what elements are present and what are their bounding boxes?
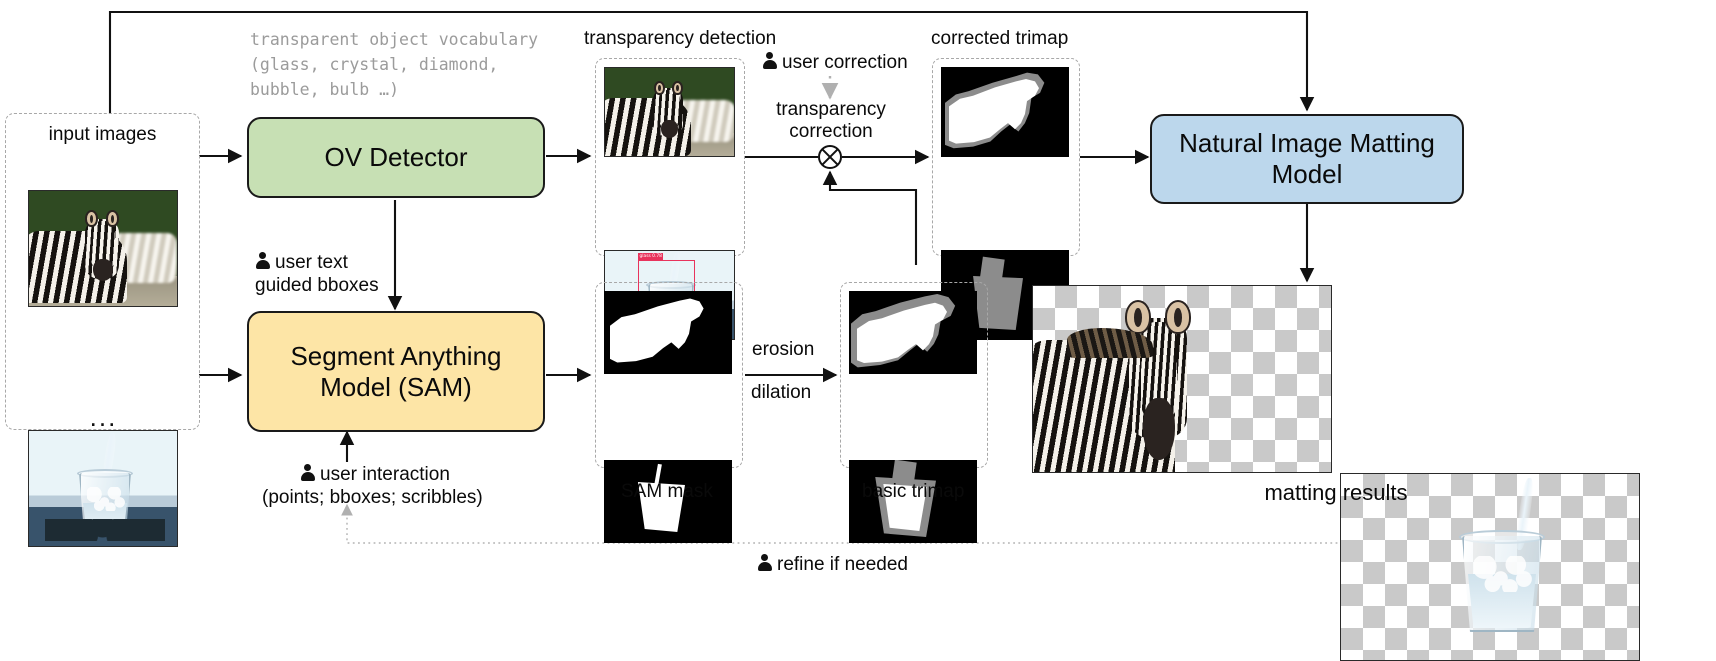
transparency-detection-group: glass 0.78 bbox=[595, 58, 745, 256]
ov-detector-box[interactable]: OV Detector bbox=[247, 117, 545, 198]
segment-anything-model-box[interactable]: Segment Anything Model (SAM) bbox=[247, 311, 545, 432]
transparent-object-vocabulary-note: transparent object vocabulary (glass, cr… bbox=[250, 27, 538, 102]
diagram-canvas: transparent object vocabulary (glass, cr… bbox=[0, 0, 1716, 645]
matting-label-line-2: Model bbox=[1272, 159, 1343, 190]
sam-mask-zebra[interactable] bbox=[604, 291, 732, 374]
label-dilation: dilation bbox=[751, 382, 811, 404]
annotation-refine-if-needed: refine if needed bbox=[757, 554, 908, 576]
basic-trimap-zebra[interactable] bbox=[849, 291, 977, 374]
annotation-user-interaction: user interaction (points; bboxes; scribb… bbox=[300, 464, 483, 509]
matting-label-line-1: Natural Image Matting bbox=[1179, 128, 1435, 159]
label-erosion: erosion bbox=[752, 339, 814, 361]
corrected-trimap-zebra[interactable] bbox=[941, 67, 1069, 157]
sam-label-line-2: Model (SAM) bbox=[320, 372, 472, 403]
zebra-cutout bbox=[1033, 286, 1332, 473]
annotation-line-1: user interaction bbox=[320, 464, 450, 486]
zebra-photo bbox=[605, 68, 734, 156]
matting-result-zebra[interactable] bbox=[1032, 285, 1332, 473]
natural-image-matting-model-box[interactable]: Natural Image Matting Model bbox=[1150, 114, 1464, 204]
input-images-title: input images bbox=[6, 124, 199, 146]
corrected-trimap-group bbox=[932, 58, 1080, 256]
input-image-zebra[interactable] bbox=[28, 190, 178, 307]
input-images-group: input images bbox=[5, 113, 200, 430]
annotation-label: refine if needed bbox=[777, 554, 908, 576]
input-image-glass[interactable] bbox=[28, 430, 178, 547]
user-icon bbox=[255, 252, 270, 269]
annotation-line-2: guided bboxes bbox=[255, 275, 379, 297]
detection-bbox-label: glass 0.78 bbox=[638, 253, 663, 260]
annotation-transparency-correction: transparency correction bbox=[771, 99, 891, 143]
annotation-user-text-guided-bboxes: user text guided bboxes bbox=[255, 252, 379, 297]
corrected-trimap-title: corrected trimap bbox=[931, 28, 1068, 50]
multiply-operator-icon bbox=[818, 145, 842, 169]
annotation-label: user correction bbox=[782, 52, 908, 74]
annotation-line-1: transparency bbox=[771, 99, 891, 121]
zebra-photo bbox=[29, 191, 177, 306]
basic-trimap-title: basic trimap bbox=[862, 481, 964, 503]
annotation-line-2: correction bbox=[771, 121, 891, 143]
detection-image-zebra[interactable] bbox=[604, 67, 735, 157]
sam-mask-group bbox=[595, 282, 743, 468]
annotation-line-1: user text bbox=[275, 252, 348, 274]
matting-results-label: matting results bbox=[1264, 480, 1407, 505]
user-icon bbox=[757, 554, 772, 571]
user-icon bbox=[762, 52, 777, 69]
sam-label-line-1: Segment Anything bbox=[290, 341, 501, 372]
annotation-user-correction: user correction bbox=[762, 52, 908, 74]
matting-results-title: matting results bbox=[1032, 482, 1640, 505]
sam-mask-title: SAM mask bbox=[621, 481, 713, 503]
annotation-line-2: (points; bboxes; scribbles) bbox=[262, 487, 483, 509]
transparency-detection-title: transparency detection bbox=[584, 28, 776, 50]
glass-photo bbox=[29, 431, 177, 546]
ov-detector-label: OV Detector bbox=[324, 142, 467, 173]
basic-trimap-group bbox=[840, 282, 988, 468]
user-icon bbox=[300, 464, 315, 481]
input-images-ellipsis: ... bbox=[6, 402, 201, 433]
